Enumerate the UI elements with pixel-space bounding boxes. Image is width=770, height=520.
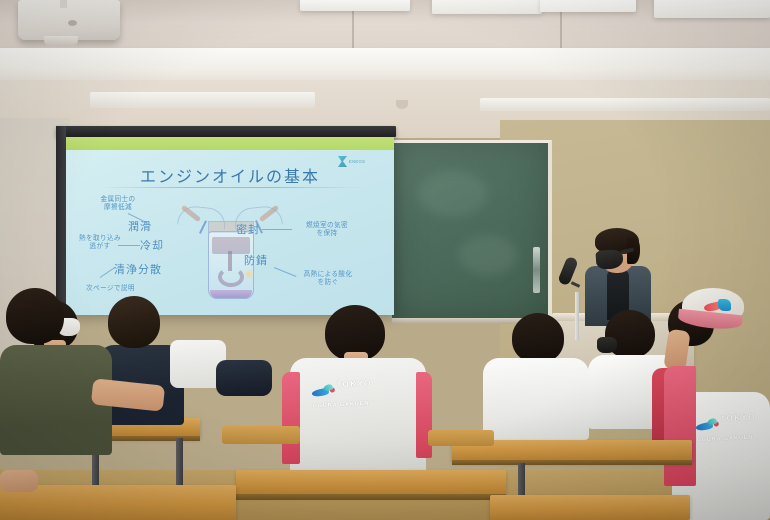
desk xyxy=(490,495,690,520)
student-arm xyxy=(0,470,38,492)
recessed-light xyxy=(480,98,770,111)
ceiling-light-fixture xyxy=(540,0,636,12)
blackboard-clip xyxy=(533,247,540,293)
tokyo-swoosh-icon xyxy=(696,418,719,430)
ceiling-light-fixture xyxy=(654,0,770,18)
crankshaft xyxy=(218,267,244,287)
label-heat-note: 熱を取り込み 逃がす xyxy=(72,234,128,250)
slide-accent-bar xyxy=(66,137,394,150)
jacket-sub-text: AUTOMOBILE UNIVERSITY SCHOOL xyxy=(337,387,373,399)
desk xyxy=(0,485,236,520)
blackboard xyxy=(392,140,552,322)
chair-back xyxy=(428,430,494,446)
microphone-stand xyxy=(575,292,579,340)
slide-title-underline xyxy=(100,187,362,188)
projector-mount xyxy=(60,0,67,8)
student-head xyxy=(6,288,64,344)
logo-dot-icon xyxy=(714,421,719,426)
jacket-side-panel xyxy=(664,366,696,486)
engine-cylinder-diagram xyxy=(172,193,288,305)
student-face-mask xyxy=(597,337,617,353)
student-head xyxy=(512,313,564,363)
jacket-sub-text: AUTOMOBILE UNIVERSITY SCHOOL xyxy=(721,421,757,433)
student-torso: TOKYO AUTOMOBILE UNIVERSITY SCHOOL OGURA… xyxy=(290,358,426,476)
projection-screen-rail xyxy=(56,126,66,316)
oil-pan xyxy=(210,290,252,298)
label-lubrication: 潤滑 xyxy=(128,220,152,233)
recessed-light xyxy=(90,92,315,108)
label-rust-prevention: 防錆 xyxy=(244,254,268,267)
label-cooling: 冷却 xyxy=(140,239,164,252)
slide: ENEOS エンジンオイルの基本 金属同士の 摩擦低 xyxy=(66,137,394,315)
ceiling-light-fixture xyxy=(300,0,410,11)
combustion-glow-icon xyxy=(244,269,254,279)
label-sealing: 密封 xyxy=(236,223,260,236)
ceiling-sensor xyxy=(396,100,408,109)
jacket-logo: TOKYO AUTOMOBILE UNIVERSITY SCHOOL OGURA… xyxy=(695,412,757,443)
projector-lens xyxy=(68,20,77,26)
projection-screen-housing xyxy=(56,126,396,137)
label-footer-note: 次ページで説明 xyxy=(86,284,135,292)
projection-screen: ENEOS エンジンオイルの基本 金属同士の 摩擦低 xyxy=(66,137,394,315)
tokyo-swoosh-icon xyxy=(312,384,335,396)
slide-title: エンジンオイルの基本 xyxy=(66,163,394,187)
student-head xyxy=(108,296,160,348)
label-cleaning-dispersion: 清浄分散 xyxy=(114,263,162,276)
jacket-side-panel xyxy=(282,372,300,464)
jacket-school-text: OGURA GAKUEN xyxy=(312,400,373,409)
classroom-photo: ENEOS エンジンオイルの基本 金属同士の 摩擦低 xyxy=(0,0,770,520)
student-torso xyxy=(483,358,589,440)
ceiling-beam xyxy=(0,48,770,82)
label-friction-note: 金属同士の 摩擦低減 xyxy=(88,195,148,211)
jacket-logo: TOKYO AUTOMOBILE UNIVERSITY SCHOOL OGURA… xyxy=(311,378,373,409)
ceiling-light-fixture xyxy=(432,0,542,14)
student-cap xyxy=(682,288,744,324)
jacket-school-text: OGURA GAKUEN xyxy=(696,434,757,443)
ceiling-projector xyxy=(18,0,120,40)
desk xyxy=(236,470,506,496)
student-bag xyxy=(216,360,272,396)
label-airtight-note: 燃焼室の気密 を保持 xyxy=(296,221,358,237)
chair-back xyxy=(222,426,300,444)
label-oxidation-note: 高熱による酸化 を防ぐ xyxy=(296,270,360,286)
logo-dot-icon xyxy=(330,387,335,392)
